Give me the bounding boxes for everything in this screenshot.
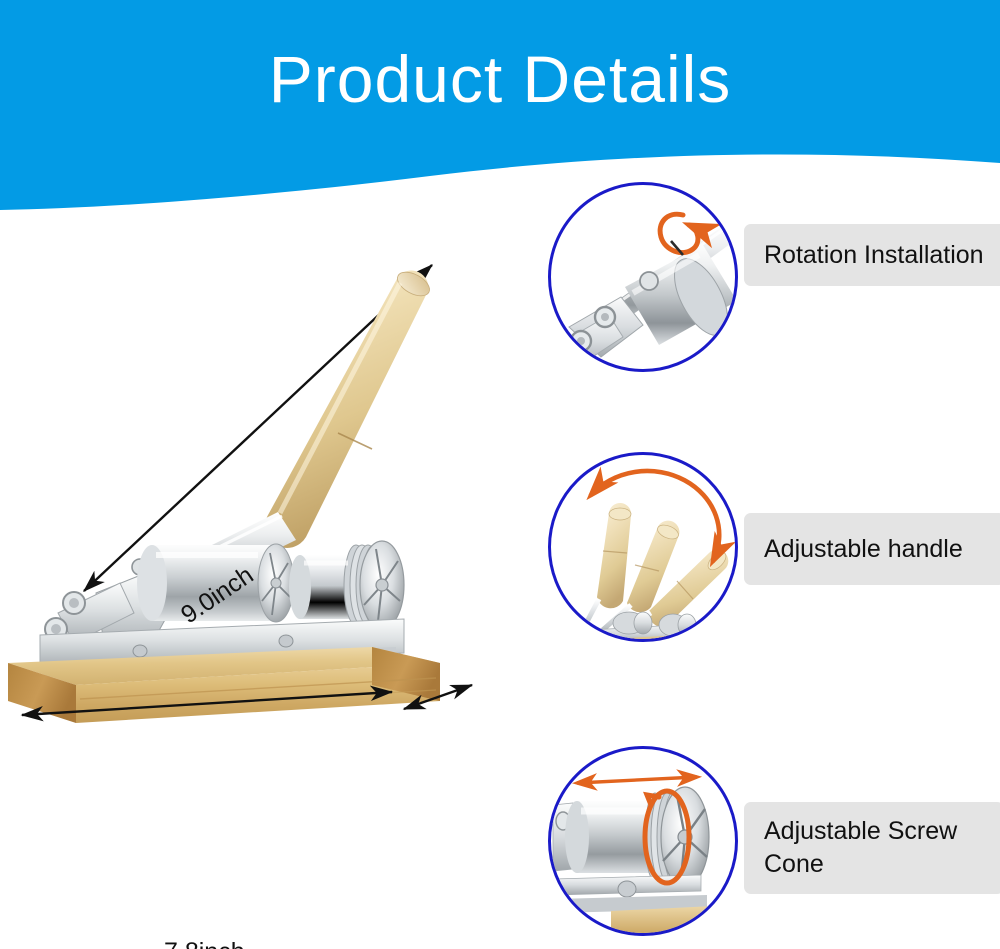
width-double-arrow-icon xyxy=(577,777,697,783)
dimension-label-base-length: 7.8inch xyxy=(164,938,245,949)
callout-label-3: Adjustable Screw Cone xyxy=(744,802,1000,894)
product-illustration: 9.0inch 7.8inch 1.9inch xyxy=(0,215,540,815)
callout-label-3-line-2: Cone xyxy=(764,848,957,881)
callout-adjustable-screw-cone: Adjustable Screw Cone xyxy=(548,746,1000,949)
wooden-handle xyxy=(265,267,433,548)
callout-adjustable-handle: Adjustable handle xyxy=(548,452,1000,662)
adjustable-handle-art xyxy=(551,455,735,639)
rotation-installation-art xyxy=(551,185,735,369)
product-details-infographic: Product Details xyxy=(0,0,1000,949)
callout-label-2: Adjustable handle xyxy=(744,513,1000,585)
callout-circle-1 xyxy=(548,182,738,372)
rotation-arrow-icon xyxy=(660,214,698,252)
callout-label-1: Rotation Installation xyxy=(744,224,1000,286)
screw-cone-assembly xyxy=(289,541,404,629)
nutcracker-drawing xyxy=(0,215,540,815)
callout-rotation-installation: Rotation Installation xyxy=(548,182,1000,392)
page-title: Product Details xyxy=(0,40,1000,118)
callout-label-2-text: Adjustable handle xyxy=(764,533,963,566)
callout-circle-3 xyxy=(548,746,738,936)
adjustable-screw-cone-art xyxy=(551,749,735,933)
callout-label-3-line-1: Adjustable Screw xyxy=(764,815,957,848)
callout-label-3-text: Adjustable Screw Cone xyxy=(764,815,957,881)
callout-circle-2 xyxy=(548,452,738,642)
callout-label-1-text: Rotation Installation xyxy=(764,239,984,272)
